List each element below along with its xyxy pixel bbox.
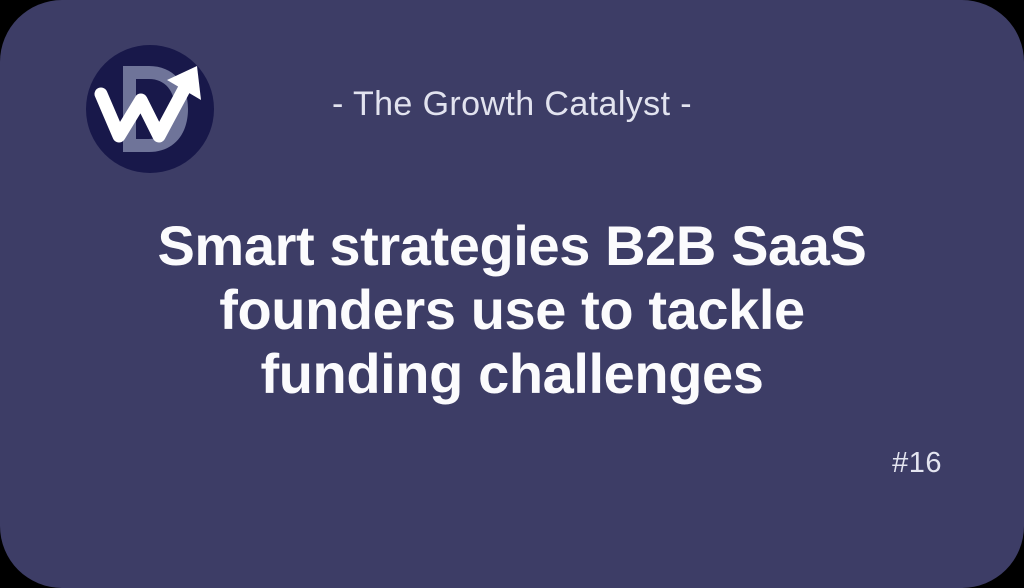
- newsletter-card: - The Growth Catalyst - Smart strategies…: [0, 0, 1024, 588]
- brand-title: - The Growth Catalyst -: [0, 82, 1024, 126]
- headline-line-2: founders use to tackle: [112, 278, 912, 342]
- issue-number-badge: #16: [892, 446, 942, 480]
- page-title: Smart strategies B2B SaaS founders use t…: [112, 214, 912, 406]
- headline-line-3: funding challenges: [112, 342, 912, 406]
- headline-line-1: Smart strategies B2B SaaS: [112, 214, 912, 278]
